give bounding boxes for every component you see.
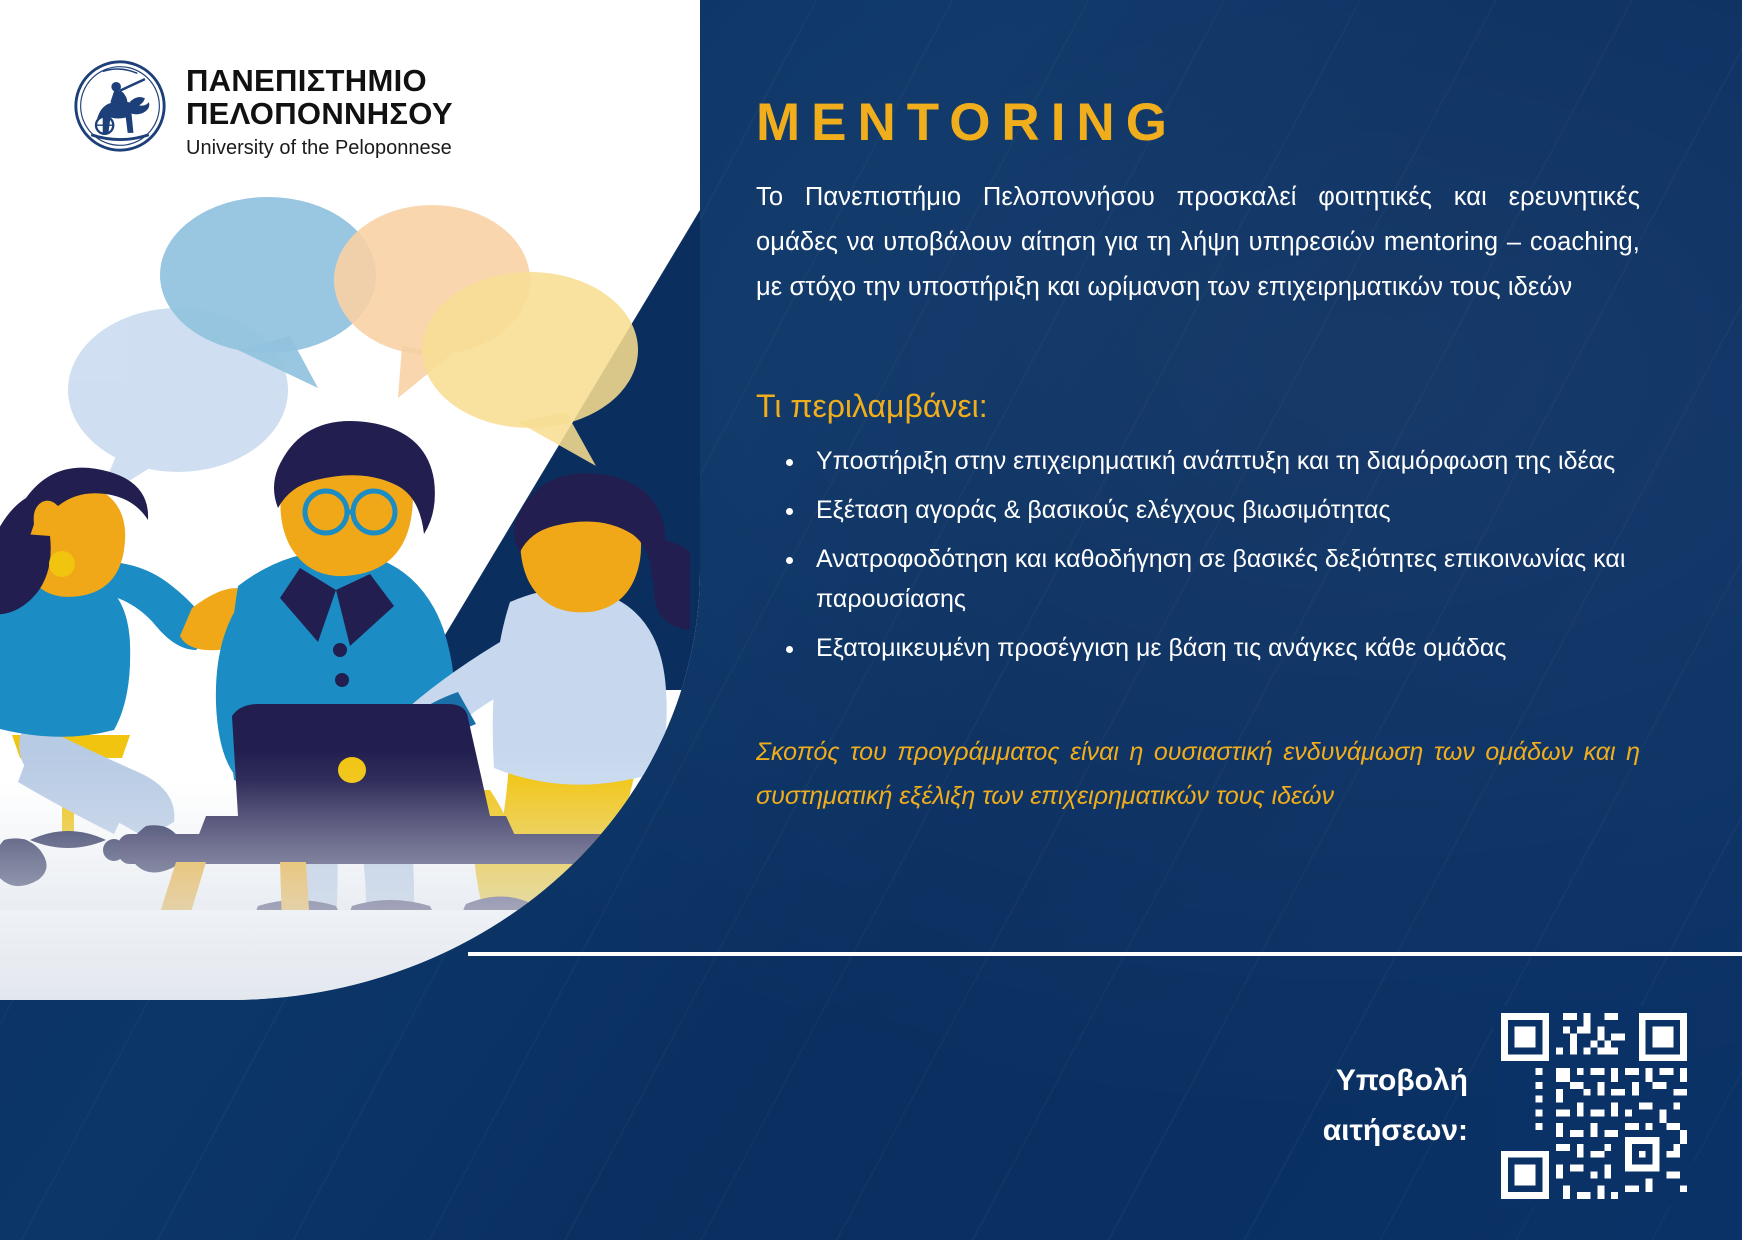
list-item: Εξέταση αγοράς & βασικούς ελέγχους βιωσι…: [800, 490, 1640, 530]
section-subheading: Τι περιλαμβάνει:: [756, 388, 1640, 425]
university-logo: ΠΑΝΕΠΙΣΤΗΜΙΟ ΠΕΛΟΠΟΝΝΗΣΟΥ University of …: [72, 58, 453, 161]
poster-canvas: ΠΑΝΕΠΙΣΤΗΜΙΟ ΠΕΛΟΠΟΝΝΗΣΟΥ University of …: [0, 0, 1742, 1240]
intro-paragraph: Το Πανεπιστήμιο Πελοποννήσου προσκαλεί φ…: [756, 175, 1640, 310]
application-footer: Υποβολή αιτήσεων:: [1258, 1006, 1694, 1206]
benefits-list: Υποστήριξη στην επιχειρηματική ανάπτυξη …: [756, 441, 1640, 668]
list-item: Ανατροφοδότηση και καθοδήγηση σε βασικές…: [800, 539, 1640, 619]
logo-text-block: ΠΑΝΕΠΙΣΤΗΜΙΟ ΠΕΛΟΠΟΝΝΗΣΟΥ University of …: [186, 58, 453, 161]
logo-line-1: ΠΑΝΕΠΙΣΤΗΜΙΟ: [186, 64, 453, 97]
submit-label: Υποβολή αιτήσεων:: [1258, 1056, 1468, 1156]
list-item: Εξατομικευμένη προσέγγιση με βάση τις αν…: [800, 628, 1640, 668]
logo-subtitle: University of the Peloponnese: [186, 135, 453, 161]
page-title: MENTORING: [756, 96, 1640, 149]
list-item: Υποστήριξη στην επιχειρηματική ανάπτυξη …: [800, 441, 1640, 481]
closing-statement: Σκοπός του προγράμματος είναι η ουσιαστι…: [756, 730, 1640, 818]
qr-code-icon[interactable]: [1494, 1006, 1694, 1206]
university-seal-icon: [72, 58, 168, 154]
poster-content: MENTORING Το Πανεπιστήμιο Πελοποννήσου π…: [756, 96, 1640, 818]
team-discussion-illustration: [0, 150, 690, 910]
logo-line-2: ΠΕΛΟΠΟΝΝΗΣΟΥ: [186, 97, 453, 130]
horizontal-divider: [468, 952, 1742, 956]
